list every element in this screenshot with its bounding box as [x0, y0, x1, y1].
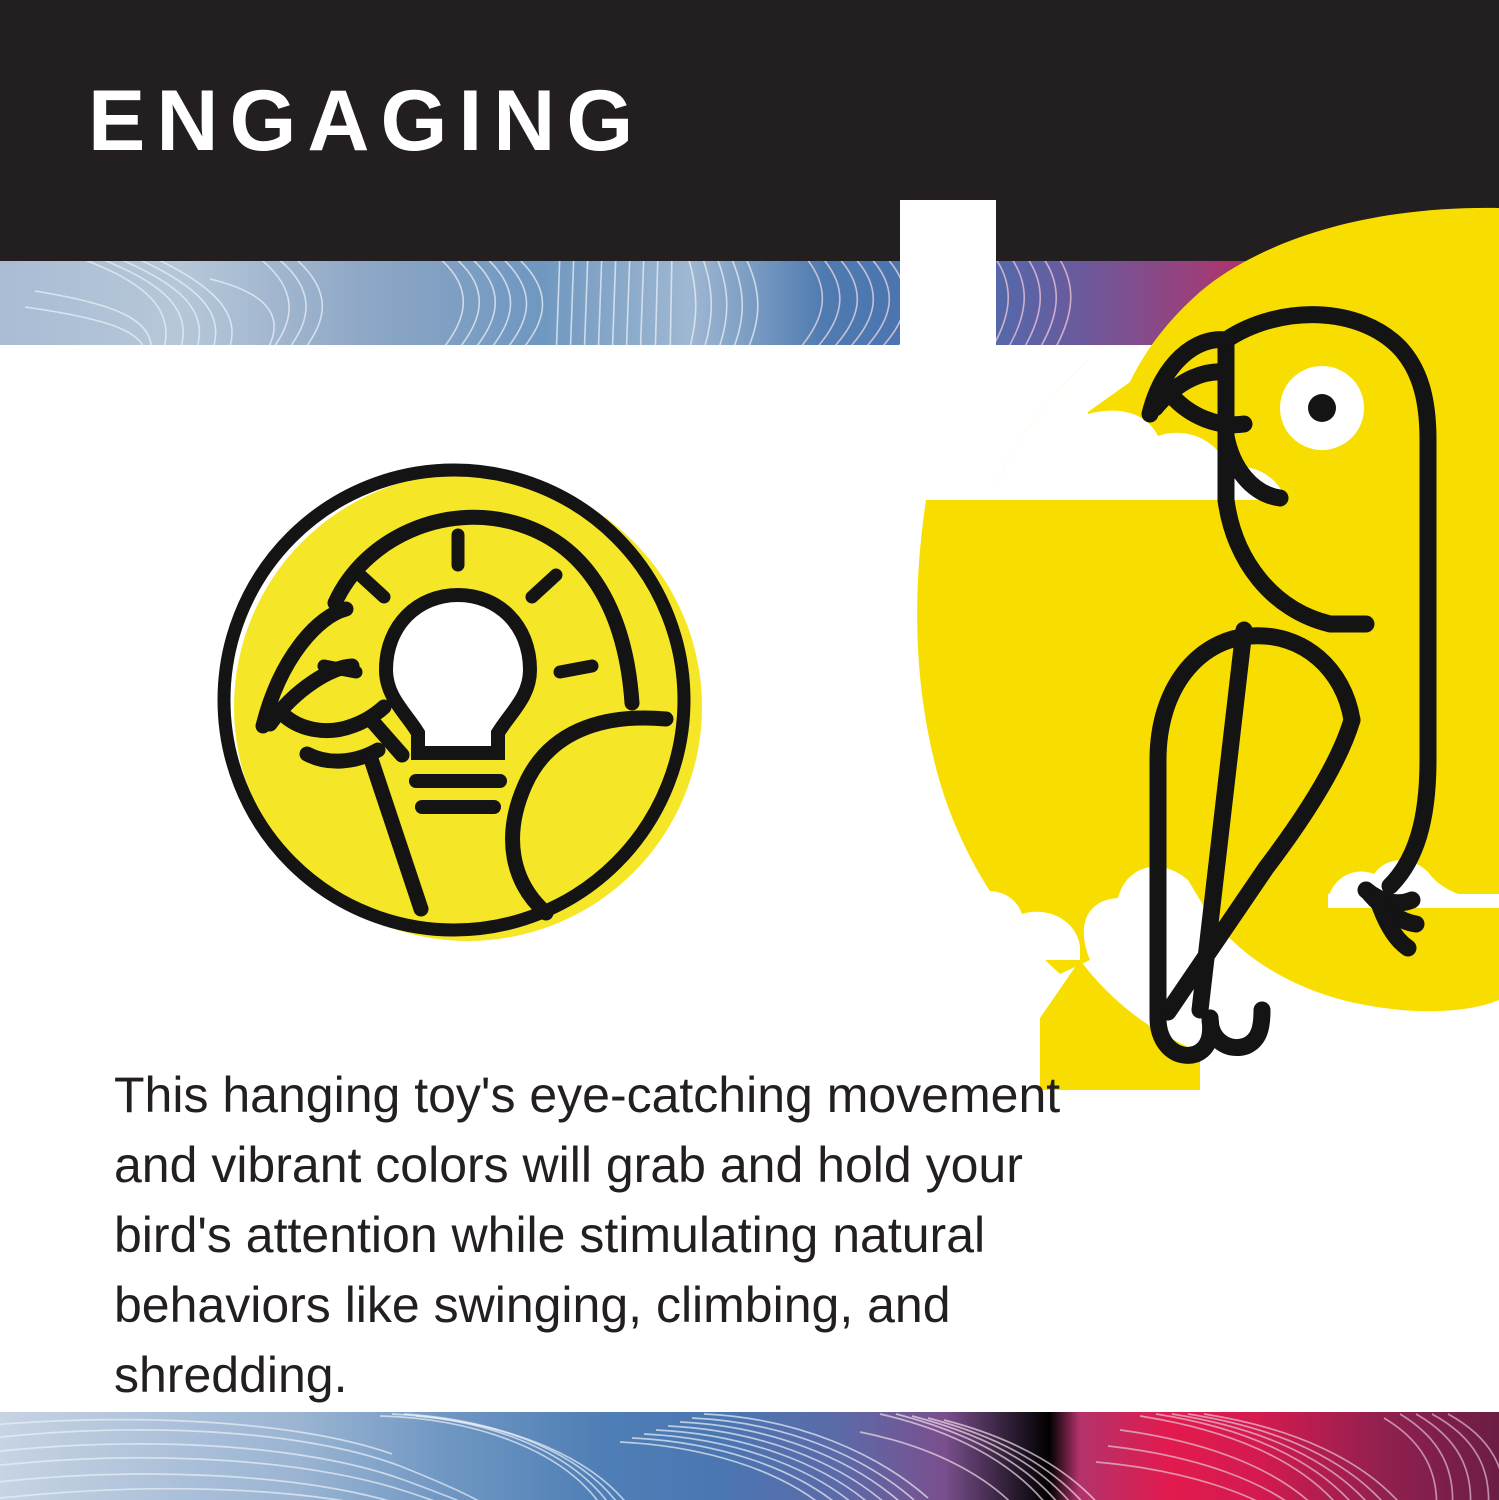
promo-card: ENGAGING	[0, 0, 1499, 1500]
feather-band-bottom	[0, 1412, 1499, 1500]
page-title: ENGAGING	[88, 78, 644, 164]
description-text: This hanging toy's eye-catching movement…	[114, 1060, 1094, 1410]
description-paragraph: This hanging toy's eye-catching movement…	[114, 1060, 1094, 1410]
parrot-illustration	[900, 200, 1499, 1090]
parrot-lightbulb-badge-icon	[200, 445, 720, 960]
